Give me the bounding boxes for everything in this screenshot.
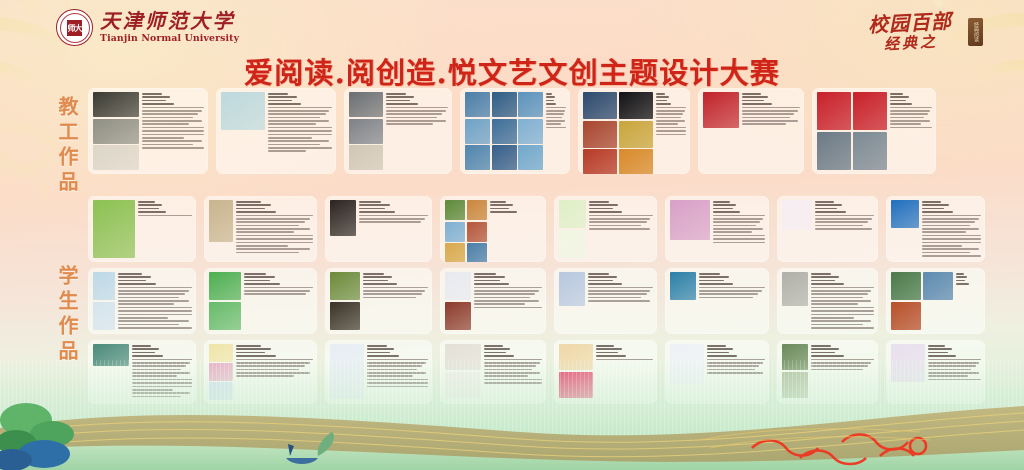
work-thumbnail [467, 243, 487, 262]
work-thumbnail [518, 92, 543, 117]
body-line [546, 120, 565, 122]
work-description [588, 272, 653, 330]
page-header: 师大 天津师范大学 Tianjin Normal University 爱阅读.… [0, 0, 1024, 88]
body-line [142, 113, 198, 115]
meta-line [138, 208, 159, 210]
work-card[interactable] [440, 268, 546, 334]
work-thumbnail [465, 145, 490, 170]
body-line [922, 238, 981, 240]
body-line [922, 228, 979, 230]
meta-line [811, 276, 839, 278]
body-line [142, 134, 204, 136]
meta-line [268, 96, 297, 98]
body-line [922, 231, 966, 233]
meta-line [236, 352, 265, 354]
body-line [118, 324, 179, 326]
work-card[interactable] [698, 88, 804, 174]
work-card[interactable] [777, 268, 878, 334]
body-line [815, 215, 874, 217]
body-line [890, 110, 931, 112]
work-thumbnail-group [209, 272, 241, 330]
work-thumbnail [703, 92, 739, 128]
work-card[interactable] [88, 88, 208, 174]
work-thumbnail [445, 302, 471, 330]
meta-line [742, 100, 764, 102]
meta-line [699, 280, 724, 282]
body-line [815, 228, 872, 230]
body-line [236, 218, 310, 220]
body-line [142, 137, 184, 139]
body-line [474, 300, 539, 302]
work-card[interactable] [886, 268, 985, 334]
body-line [118, 293, 185, 295]
meta-line [236, 355, 276, 357]
work-thumbnail [349, 119, 383, 144]
body-line [236, 252, 299, 254]
meta-line [815, 208, 837, 210]
body-line [589, 218, 650, 220]
body-line [713, 215, 765, 217]
meta-line [588, 276, 617, 278]
work-thumbnail [670, 200, 710, 240]
work-thumbnail [559, 230, 586, 258]
body-line [546, 117, 562, 119]
body-line [656, 130, 687, 132]
meta-line [713, 211, 740, 213]
meta-line [811, 280, 835, 282]
work-description [490, 200, 543, 258]
body-line [118, 320, 189, 322]
meta-line [132, 348, 159, 350]
work-thumbnail-group [93, 272, 115, 330]
body-line [811, 300, 871, 302]
meta-line [236, 211, 276, 213]
body-line [359, 215, 428, 217]
body-line [546, 107, 566, 109]
body-line [474, 303, 525, 305]
meta-line [928, 352, 948, 354]
meta-line [268, 100, 292, 102]
body-line [142, 144, 193, 146]
meta-line [956, 283, 969, 285]
work-thumbnail [891, 200, 919, 228]
meta-line [484, 345, 503, 347]
work-thumbnail [583, 121, 617, 148]
meta-line [589, 204, 618, 206]
work-thumbnail [782, 272, 808, 306]
body-line [713, 235, 765, 237]
body-line [656, 113, 683, 115]
work-description [742, 92, 800, 170]
body-line [268, 150, 306, 152]
body-line [656, 110, 685, 112]
body-line [656, 120, 685, 122]
body-line [656, 127, 687, 129]
meta-line [138, 211, 166, 213]
work-thumbnail [93, 272, 115, 300]
body-line [811, 317, 854, 319]
body-line [142, 147, 204, 149]
work-card[interactable] [88, 196, 196, 262]
body-line [268, 110, 329, 112]
body-line [811, 307, 874, 309]
body-line [742, 107, 800, 109]
body-line [890, 120, 931, 122]
body-line [268, 137, 312, 139]
meta-line [588, 283, 622, 285]
body-line [268, 147, 332, 149]
meta-line [890, 100, 906, 102]
body-line [890, 107, 933, 109]
meta-line [132, 345, 151, 347]
meta-line [142, 100, 166, 102]
meta-line [363, 276, 392, 278]
body-line [118, 287, 192, 289]
meta-line [474, 273, 496, 275]
work-description [142, 92, 204, 170]
body-line [589, 228, 650, 230]
work-description [713, 200, 765, 258]
work-thumbnail-group [782, 200, 812, 258]
body-line [656, 123, 679, 125]
meta-line [922, 201, 941, 203]
body-line [811, 314, 874, 316]
meta-line [707, 348, 733, 350]
work-description [386, 92, 448, 170]
meta-line [236, 204, 271, 206]
work-card[interactable] [440, 196, 546, 262]
meta-line [474, 280, 500, 282]
work-thumbnail-group [891, 272, 953, 330]
body-line [142, 110, 202, 112]
work-description [138, 200, 192, 258]
work-thumbnail [583, 92, 617, 119]
work-thumbnail [492, 145, 517, 170]
work-thumbnail [465, 92, 490, 117]
meta-line [742, 96, 768, 98]
work-thumbnail [330, 272, 360, 300]
meta-line [596, 352, 618, 354]
work-description [474, 272, 542, 330]
work-thumbnail [817, 92, 851, 130]
meta-line [956, 280, 966, 282]
body-line [922, 221, 975, 223]
meta-line [699, 276, 729, 278]
work-thumbnail [209, 302, 241, 330]
body-line [138, 215, 192, 217]
work-thumbnail [923, 272, 953, 300]
work-thumbnail [619, 121, 653, 148]
work-thumbnail-group [93, 92, 139, 170]
meta-line [236, 348, 271, 350]
meta-line [359, 201, 381, 203]
body-line [118, 300, 189, 302]
work-description [118, 272, 192, 330]
work-thumbnail [518, 119, 543, 144]
work-description [922, 200, 981, 258]
body-line [142, 107, 204, 109]
work-thumbnail-group [559, 200, 586, 258]
body-line [118, 297, 179, 299]
body-line [815, 221, 868, 223]
body-line [811, 310, 874, 312]
brand-name-en: Tianjin Normal University [100, 34, 239, 43]
body-line [268, 113, 326, 115]
body-line [922, 245, 962, 247]
meta-line [236, 345, 261, 347]
meta-line [490, 201, 507, 203]
meta-line [474, 276, 505, 278]
work-card[interactable] [554, 268, 657, 334]
body-line [142, 127, 204, 129]
body-line [742, 117, 790, 119]
meta-line [359, 208, 385, 210]
work-card[interactable] [665, 268, 769, 334]
meta-line [811, 355, 844, 357]
meta-line [890, 96, 909, 98]
meta-line [363, 280, 388, 282]
body-line [588, 293, 647, 295]
body-line [236, 245, 288, 247]
work-thumbnail [209, 272, 241, 300]
meta-line [386, 93, 406, 95]
meta-line [359, 211, 395, 213]
body-line [268, 107, 332, 109]
work-description [890, 92, 933, 170]
meta-line [118, 283, 156, 285]
meta-line [118, 273, 142, 275]
work-card[interactable] [777, 196, 878, 262]
meta-line [707, 345, 726, 347]
work-thumbnail-group [465, 92, 543, 170]
work-description [589, 200, 653, 258]
meta-line [490, 211, 517, 213]
meta-line [484, 348, 510, 350]
meta-line [596, 345, 614, 347]
work-thumbnail [209, 200, 233, 242]
meta-line [742, 93, 761, 95]
seal-glyph: 师大 [67, 20, 82, 36]
meta-line [890, 103, 912, 105]
body-line [811, 290, 871, 292]
body-line [713, 238, 765, 240]
work-description [656, 92, 687, 170]
body-line [386, 107, 448, 109]
body-line [474, 290, 539, 292]
meta-line [244, 273, 266, 275]
meta-line [359, 204, 390, 206]
work-description [236, 200, 313, 258]
meta-line [811, 283, 844, 285]
body-line [142, 130, 204, 132]
work-card[interactable] [460, 88, 570, 174]
meta-line [596, 348, 622, 350]
meta-line [707, 352, 729, 354]
work-thumbnail [465, 119, 490, 144]
body-line [546, 110, 565, 112]
body-line [142, 123, 189, 125]
work-card[interactable] [204, 268, 317, 334]
body-line [118, 290, 189, 292]
meta-line [928, 355, 956, 357]
work-thumbnail [853, 92, 887, 130]
work-description [815, 200, 874, 258]
meta-line [386, 103, 418, 105]
work-thumbnail [492, 92, 517, 117]
work-thumbnail [93, 119, 139, 144]
body-line [890, 127, 933, 129]
work-thumbnail-group [330, 272, 360, 330]
meta-line [588, 280, 613, 282]
body-line [713, 228, 763, 230]
body-line [713, 221, 760, 223]
body-line [359, 221, 421, 223]
meta-line [811, 352, 835, 354]
meta-line [118, 276, 151, 278]
work-thumbnail [445, 200, 465, 220]
body-line [474, 307, 542, 309]
meta-line [922, 204, 949, 206]
body-line [589, 225, 641, 227]
body-line [811, 320, 871, 322]
body-line [118, 327, 192, 329]
work-card[interactable] [344, 88, 452, 174]
work-thumbnail [349, 145, 383, 170]
student-works-row-1 [88, 196, 985, 262]
body-line [142, 140, 202, 142]
body-line [386, 120, 446, 122]
body-line [742, 113, 794, 115]
work-thumbnail [93, 145, 139, 170]
work-thumbnail-group [670, 200, 710, 258]
work-description [956, 272, 982, 330]
body-line [244, 290, 310, 292]
body-line [922, 225, 970, 227]
work-thumbnail [221, 92, 265, 130]
body-line [268, 120, 329, 122]
meta-line [699, 273, 720, 275]
meta-line [546, 96, 555, 98]
body-line [742, 120, 798, 122]
body-line [268, 144, 320, 146]
work-thumbnail-group [703, 92, 739, 170]
body-line [244, 287, 313, 289]
work-card[interactable] [886, 196, 985, 262]
body-line [811, 327, 874, 329]
grass-texture [0, 360, 1024, 470]
corner-badge-line2: 经典之 [883, 31, 938, 55]
body-line [713, 218, 763, 220]
meta-line [268, 103, 301, 105]
work-thumbnail-group [349, 92, 383, 170]
meta-line [815, 211, 846, 213]
body-line [656, 117, 681, 119]
work-card[interactable] [554, 196, 657, 262]
meta-line [363, 283, 397, 285]
meta-line [656, 93, 666, 95]
meta-line [244, 276, 275, 278]
work-card[interactable] [216, 88, 336, 174]
body-line [236, 228, 310, 230]
work-card[interactable] [325, 268, 432, 334]
body-line [142, 120, 202, 122]
meta-line [142, 103, 174, 105]
body-line [236, 225, 299, 227]
body-line [386, 123, 433, 125]
faculty-works-row [88, 88, 936, 174]
body-line [474, 297, 530, 299]
body-line [922, 235, 981, 237]
meta-line [367, 352, 390, 354]
body-line [922, 218, 979, 220]
meta-line [815, 204, 842, 206]
body-line [589, 215, 653, 217]
body-line [713, 231, 752, 233]
work-description [363, 272, 428, 330]
meta-line [236, 208, 265, 210]
meta-line [367, 348, 394, 350]
body-line [656, 134, 687, 136]
work-thumbnail-group [330, 200, 356, 258]
university-seal-icon: 师大 [56, 9, 93, 46]
meta-line [956, 276, 967, 278]
meta-line [546, 93, 552, 95]
meta-line [132, 352, 155, 354]
work-card[interactable] [812, 88, 936, 174]
work-card[interactable] [665, 196, 769, 262]
body-line [922, 248, 979, 250]
body-line [588, 297, 641, 299]
body-line [742, 110, 798, 112]
work-thumbnail [467, 222, 487, 242]
body-line [118, 307, 192, 309]
body-line [713, 225, 756, 227]
meta-line [236, 201, 261, 203]
work-thumbnail [891, 302, 921, 330]
work-thumbnail [492, 119, 517, 144]
work-card[interactable] [204, 196, 317, 262]
body-line [811, 303, 858, 305]
meta-line [138, 201, 155, 203]
body-line [118, 314, 192, 316]
work-thumbnail [670, 272, 696, 300]
work-thumbnail-group [583, 92, 653, 170]
body-line [922, 255, 981, 257]
body-line [236, 242, 313, 244]
body-line [474, 287, 542, 289]
meta-line [589, 211, 622, 213]
meta-line [386, 96, 414, 98]
work-card[interactable] [325, 196, 432, 262]
work-thumbnail [93, 302, 115, 330]
work-description [699, 272, 765, 330]
work-thumbnail-group [891, 200, 919, 258]
body-line [268, 123, 316, 125]
body-line [699, 287, 765, 289]
body-line [236, 235, 313, 237]
work-thumbnail-group [817, 92, 887, 170]
meta-line [656, 96, 670, 98]
body-line [699, 293, 758, 295]
work-thumbnail [559, 200, 586, 228]
meta-line [596, 355, 626, 357]
work-thumbnail-group [445, 200, 487, 258]
work-thumbnail [330, 200, 356, 236]
work-card[interactable] [88, 268, 196, 334]
meta-line [811, 273, 831, 275]
work-thumbnail [445, 243, 465, 262]
work-card[interactable] [578, 88, 690, 174]
